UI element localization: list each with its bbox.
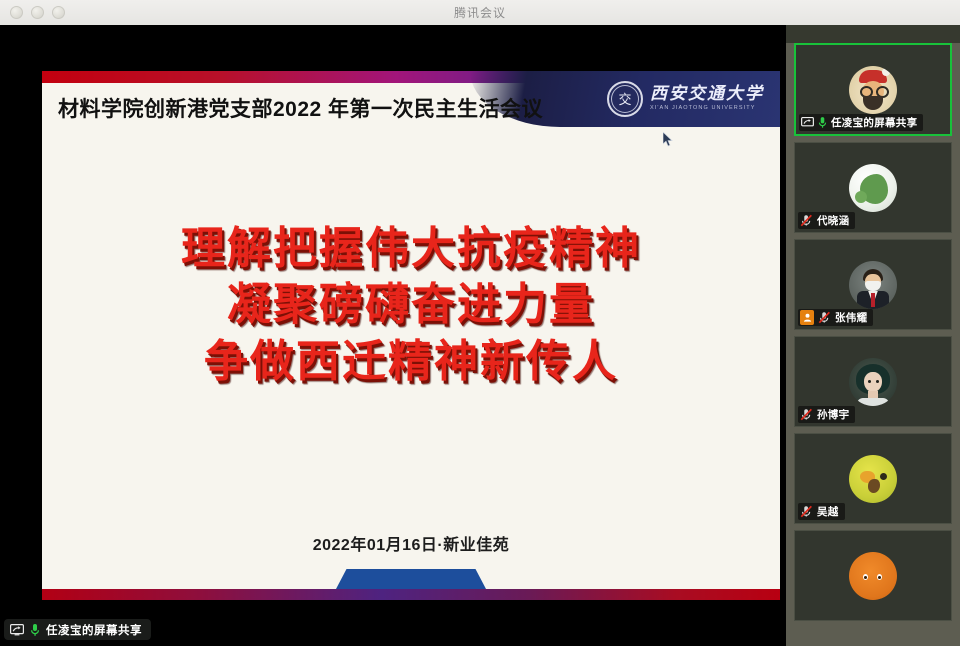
university-name-en: XI'AN JIAOTONG UNIVERSITY bbox=[650, 106, 764, 112]
participant-name: 代晓涵 bbox=[817, 213, 849, 228]
app-title: 腾讯会议 bbox=[0, 4, 960, 21]
host-badge-icon bbox=[800, 310, 814, 325]
seal-glyph: 交 bbox=[618, 93, 631, 106]
participant-tile[interactable]: 代晓涵 bbox=[794, 142, 952, 233]
participant-sidebar[interactable]: 任凌宝的屏幕共享 代晓涵 bbox=[786, 25, 960, 646]
person-in-suit-avatar bbox=[849, 261, 897, 309]
participant-tile[interactable]: 吴越 bbox=[794, 433, 952, 524]
participant-label: 张伟耀 bbox=[798, 309, 873, 326]
participant-tile-list[interactable]: 任凌宝的屏幕共享 代晓涵 bbox=[786, 43, 960, 627]
slide-main-title: 理解把握伟大抗疫精神 凝聚磅礴奋进力量 争做西迁精神新传人 bbox=[42, 221, 780, 390]
participant-label: 吴越 bbox=[798, 503, 845, 520]
slide-heading: 材料学院创新港党支部2022 年第一次民主生活会议 bbox=[58, 93, 543, 123]
slide-bottom-gradient-bar bbox=[42, 589, 780, 600]
yellow-round-avatar bbox=[849, 455, 897, 503]
mic-muted-icon bbox=[818, 311, 831, 324]
mic-muted-icon bbox=[800, 505, 813, 518]
university-seal-icon: 交 bbox=[607, 81, 643, 117]
orange-round-avatar bbox=[849, 552, 897, 600]
participant-tile[interactable]: 张伟耀 bbox=[794, 239, 952, 330]
santa-character-avatar bbox=[849, 66, 897, 114]
slide-title-line-1: 理解把握伟大抗疫精神 bbox=[42, 221, 780, 277]
screen-share-icon bbox=[801, 117, 814, 128]
slide-bottom-trapezoid bbox=[336, 569, 486, 589]
screen-share-icon bbox=[10, 624, 24, 636]
mic-muted-icon bbox=[800, 408, 813, 421]
participant-label: 任凌宝的屏幕共享 bbox=[799, 114, 923, 131]
mic-on-icon bbox=[30, 623, 40, 637]
shared-screen-stage[interactable]: 交 西安交通大学 XI'AN JIAOTONG UNIVERSITY 材料学院创… bbox=[0, 25, 786, 646]
sidebar-top-spacer bbox=[786, 25, 960, 43]
dark-hair-person-avatar bbox=[849, 358, 897, 406]
participant-name: 张伟耀 bbox=[835, 310, 867, 325]
share-badge-label: 任凌宝的屏幕共享 bbox=[46, 622, 142, 638]
participant-tile[interactable]: 孙博宇 bbox=[794, 336, 952, 427]
participant-tile[interactable] bbox=[794, 530, 952, 621]
participant-label: 代晓涵 bbox=[798, 212, 855, 229]
university-logo: 交 西安交通大学 XI'AN JIAOTONG UNIVERSITY bbox=[607, 81, 764, 117]
mic-on-icon bbox=[818, 116, 827, 129]
participant-name: 孙博宇 bbox=[817, 407, 849, 422]
slide-title-line-2: 凝聚磅礴奋进力量 bbox=[42, 277, 780, 333]
slide-date-location: 2022年01月16日·新业佳苑 bbox=[42, 531, 780, 555]
university-name-cn: 西安交通大学 bbox=[650, 86, 764, 103]
slide-title-line-3: 争做西迁精神新传人 bbox=[42, 334, 780, 390]
globe-avatar bbox=[849, 164, 897, 212]
screen-share-status-badge: 任凌宝的屏幕共享 bbox=[4, 619, 151, 640]
window-title-bar: 腾讯会议 bbox=[0, 0, 960, 26]
presentation-slide: 交 西安交通大学 XI'AN JIAOTONG UNIVERSITY 材料学院创… bbox=[42, 71, 780, 600]
participant-name: 任凌宝的屏幕共享 bbox=[831, 115, 917, 130]
mouse-cursor-icon bbox=[663, 132, 674, 147]
participant-name: 吴越 bbox=[817, 504, 839, 519]
participant-label: 孙博宇 bbox=[798, 406, 855, 423]
mic-muted-icon bbox=[800, 214, 813, 227]
participant-tile[interactable]: 任凌宝的屏幕共享 bbox=[794, 43, 952, 136]
